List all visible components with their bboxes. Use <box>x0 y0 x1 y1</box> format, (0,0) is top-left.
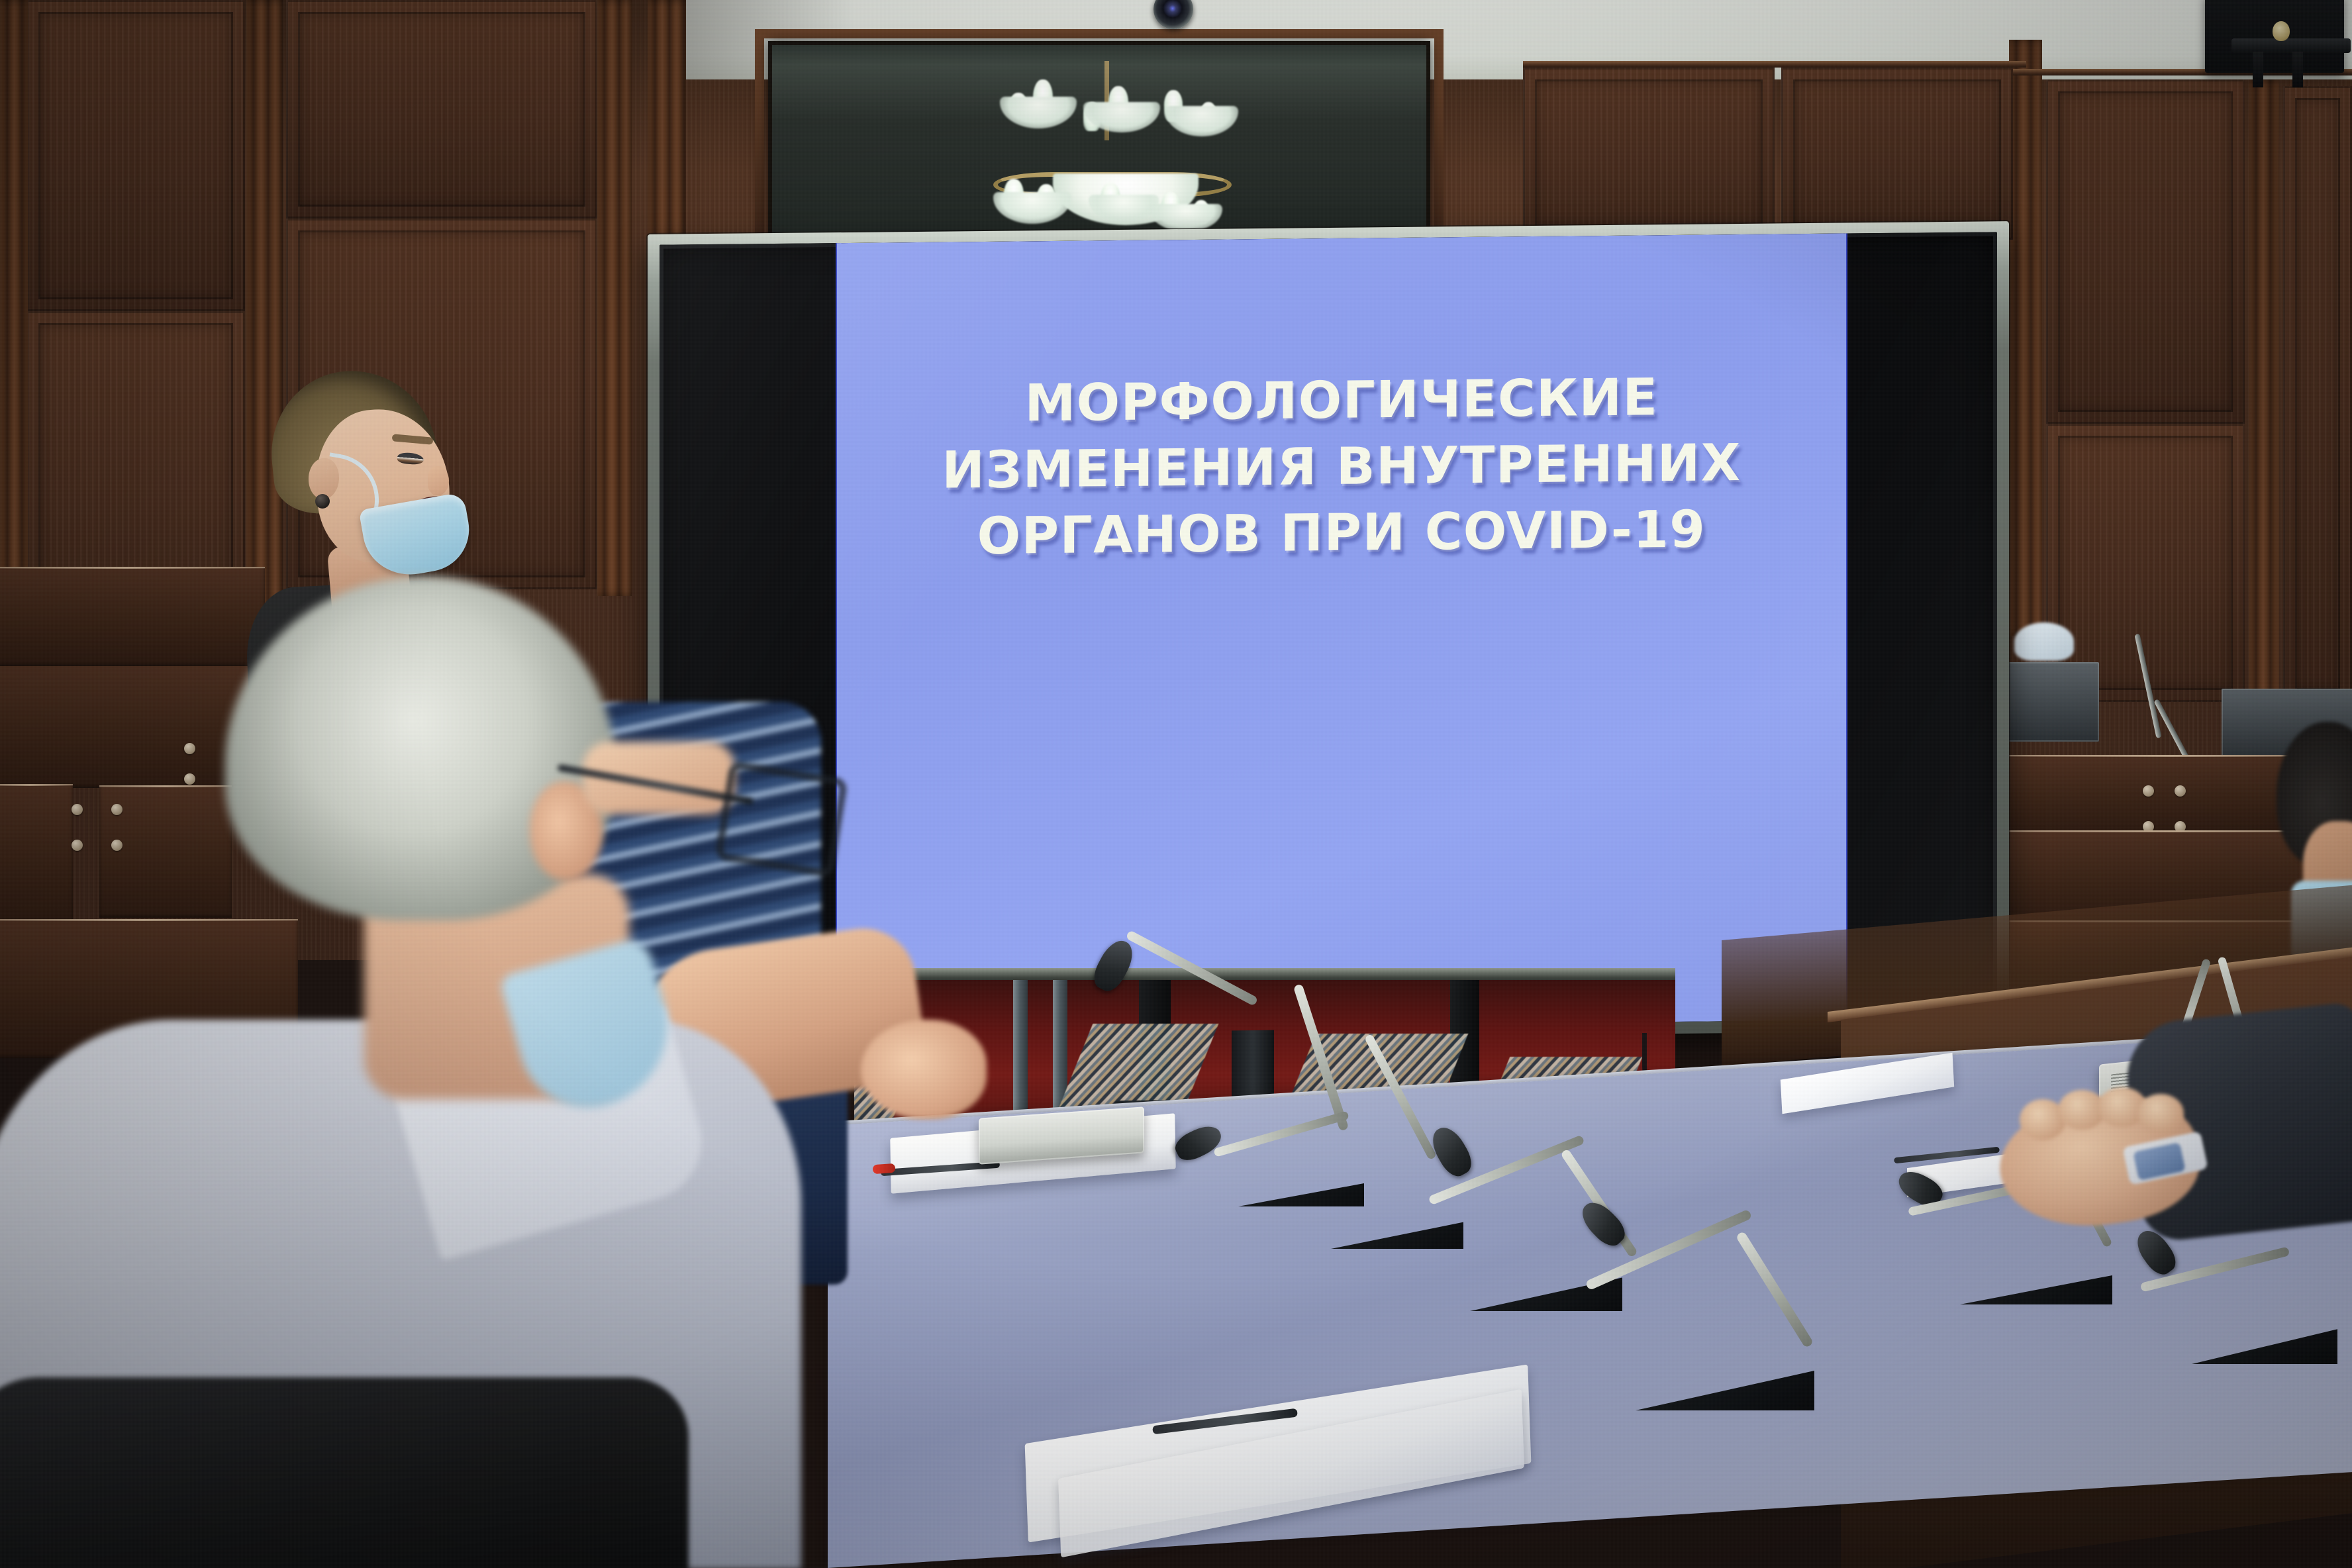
wall-panel <box>2046 79 2245 424</box>
conference-hall-photo: МОРФОЛОГИЧЕСКИЕ ИЗМЕНЕНИЯ ВНУТРЕННИХ ОРГ… <box>0 0 2352 1568</box>
chandelier-cup <box>1165 106 1238 136</box>
wall-panel <box>286 0 597 219</box>
speaker-leg <box>2292 52 2303 87</box>
attendee-hand <box>861 1020 987 1119</box>
seated-attendee-right <box>2026 973 2352 1371</box>
fluted-pilaster <box>597 0 632 596</box>
wall-trim <box>1523 61 2026 68</box>
slide-title-line-2: ИЗМЕНЕНИЯ ВНУТРЕННИХ <box>942 430 1741 505</box>
fluted-pilaster <box>2009 40 2042 636</box>
wall-panel <box>26 0 245 311</box>
speaker-nose <box>428 466 449 495</box>
wall-panel <box>1781 68 2013 240</box>
speaker-knob-icon <box>2273 21 2290 41</box>
fluted-pilaster <box>2249 79 2279 702</box>
chandelier-reflection <box>954 61 1271 226</box>
background-object <box>2014 622 2074 661</box>
knuckle <box>2137 1094 2184 1132</box>
eyeglasses-lens <box>714 761 848 877</box>
slide-title-line-3: ОРГАНОВ ПРИ COVID-19 <box>977 497 1706 571</box>
desk-knob <box>2175 785 2186 797</box>
foreground-chair <box>0 1377 689 1568</box>
speaker-bracket <box>2231 38 2351 53</box>
chandelier-cup <box>993 192 1071 224</box>
furniture-leg <box>1013 980 1028 1112</box>
background-laptop <box>1993 662 2099 742</box>
wall-panel <box>2283 86 2352 702</box>
presentation-slide: МОРФОЛОГИЧЕСКИЕ ИЗМЕНЕНИЯ ВНУТРЕННИХ ОРГ… <box>836 233 1847 1030</box>
slide-title-line-1: МОРФОЛОГИЧЕСКИЕ <box>1024 365 1658 437</box>
desk-knob <box>2143 785 2154 797</box>
wall-panel <box>1523 68 1775 240</box>
pen-cap <box>873 1163 896 1174</box>
speaker-leg <box>2253 52 2263 87</box>
chandelier-cup <box>1000 97 1077 128</box>
fluted-pilaster <box>648 0 686 238</box>
